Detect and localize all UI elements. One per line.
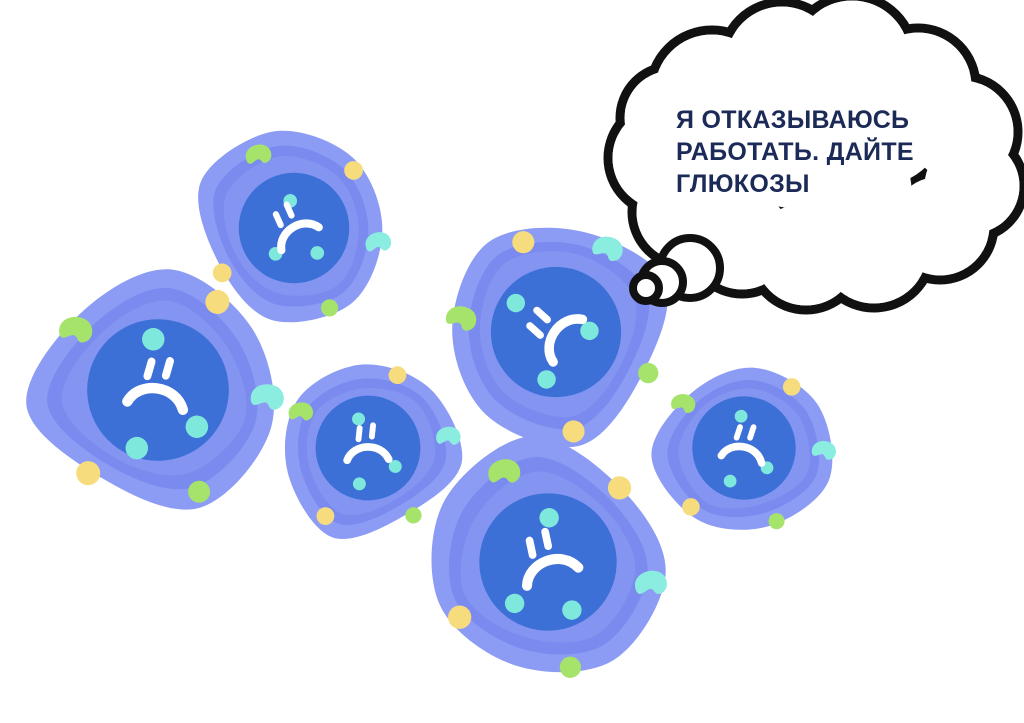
thought-bubble-line-1: Я ОТКАЗЫВАЮСЬ [676, 106, 909, 134]
bubble-tail-circle-2 [633, 275, 659, 301]
thought-bubble-layer: Я ОТКАЗЫВАЮСЬРАБОТАТЬ. ДАЙТЕГЛЮКОЗЫ [608, 0, 1024, 310]
illustration-canvas: Я ОТКАЗЫВАЮСЬРАБОТАТЬ. ДАЙТЕГЛЮКОЗЫ [0, 0, 1024, 723]
thought-bubble-line-3: ГЛЮКОЗЫ [676, 170, 810, 198]
thought-bubble-line-2: РАБОТАТЬ. ДАЙТЕ [676, 136, 914, 166]
cells-scene: Я ОТКАЗЫВАЮСЬРАБОТАТЬ. ДАЙТЕГЛЮКОЗЫ [0, 0, 1024, 723]
